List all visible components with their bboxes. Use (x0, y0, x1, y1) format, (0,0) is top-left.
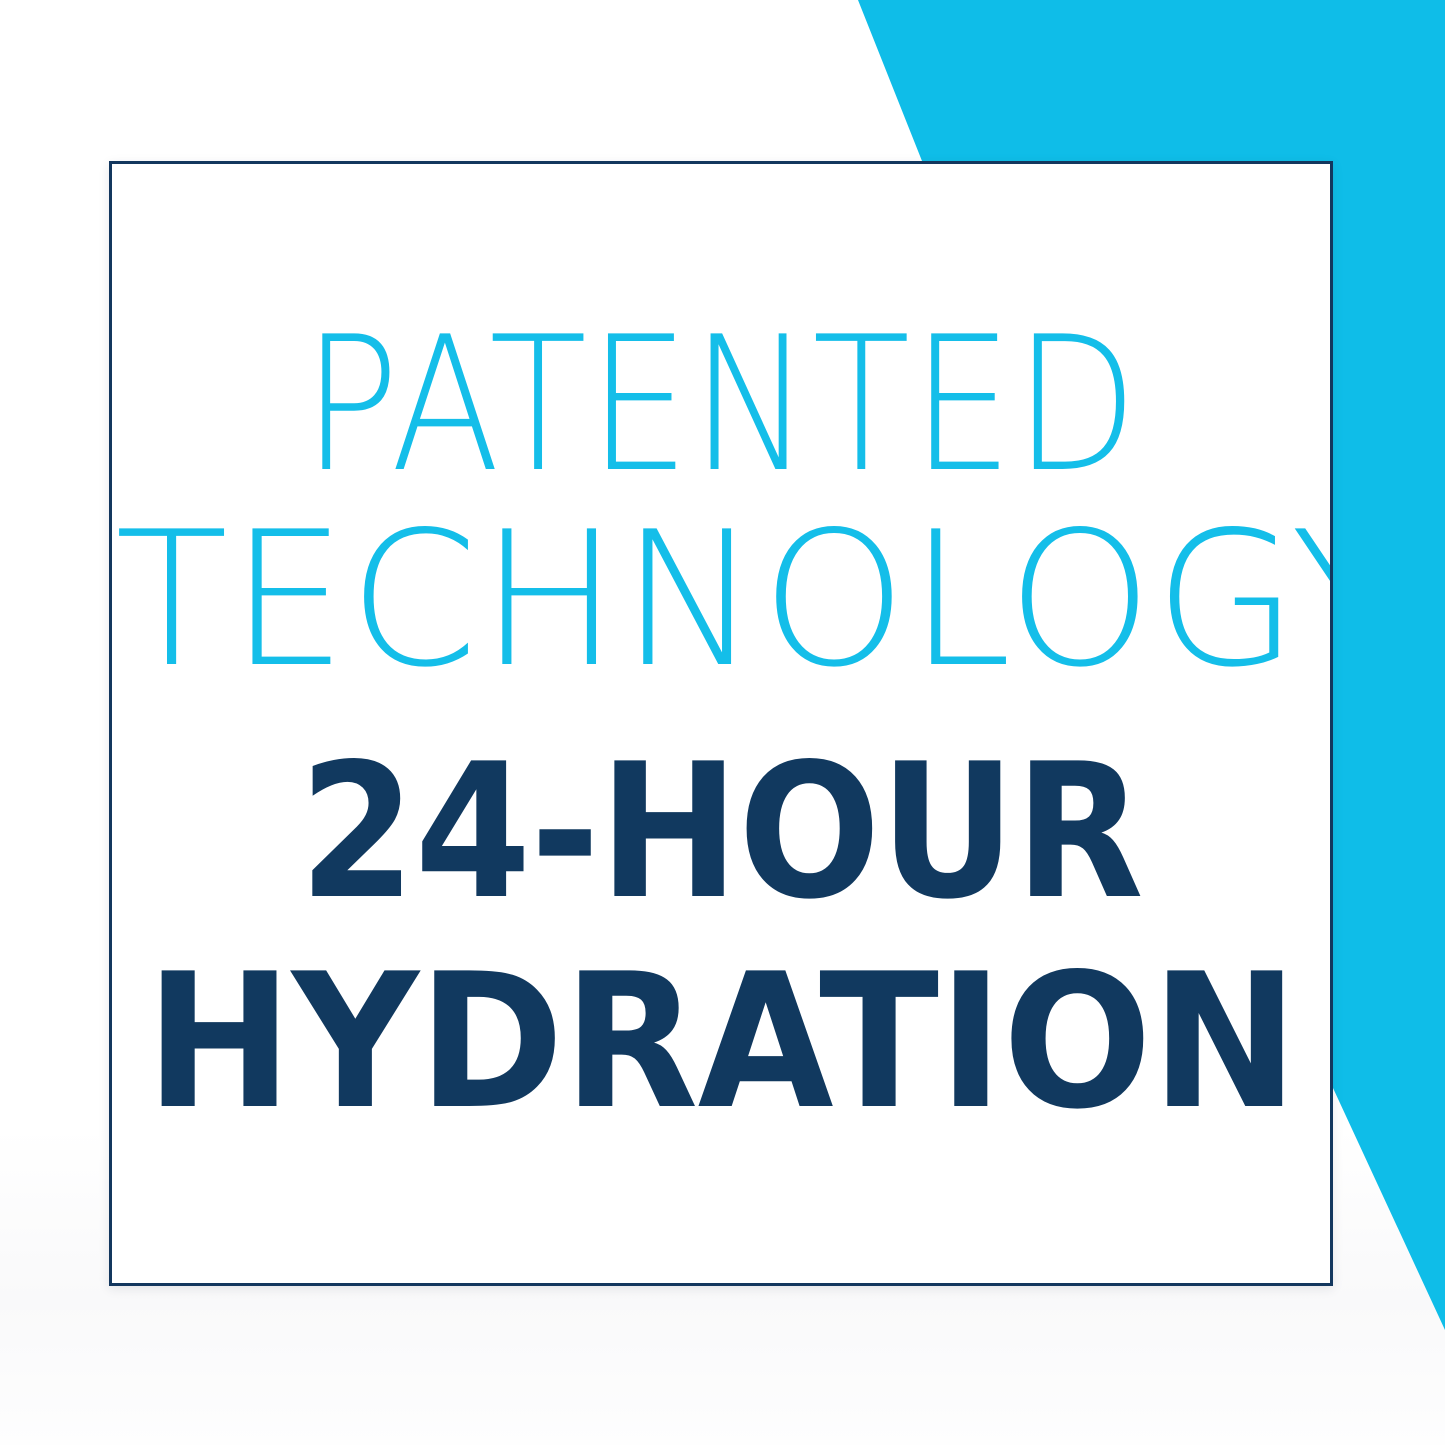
claim-card-body: PATENTED TECHNOLOGY 24-HOUR HYDRATION (112, 164, 1330, 1283)
claim-card: PATENTED TECHNOLOGY 24-HOUR HYDRATION (109, 161, 1333, 1286)
eyebrow-line-technology: TECHNOLOGY (115, 507, 1327, 693)
claim-line-hydration: HYDRATION (145, 949, 1296, 1135)
claim-line-24-hour: 24-HOUR (173, 739, 1269, 925)
eyebrow-line-patented: PATENTED (197, 312, 1244, 498)
promo-graphic: PATENTED TECHNOLOGY 24-HOUR HYDRATION (0, 0, 1445, 1445)
